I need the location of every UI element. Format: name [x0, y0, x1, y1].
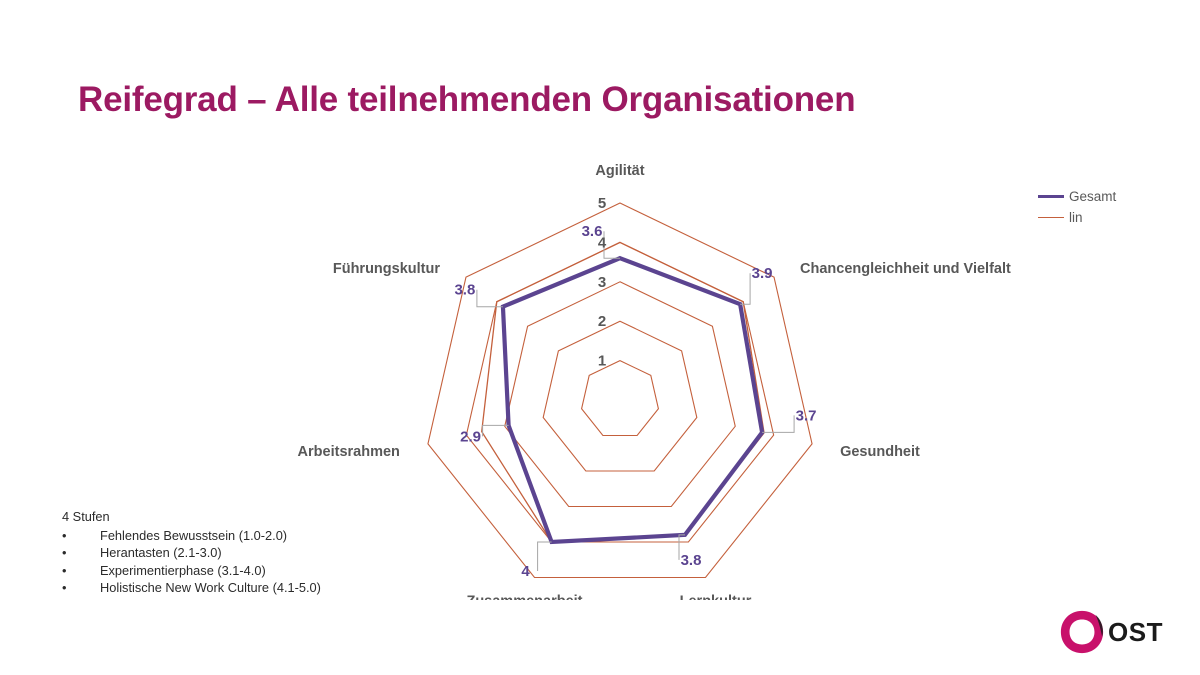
stufen-item-label: Experimentierphase (3.1-4.0): [100, 562, 266, 580]
stufen-legend: 4 Stufen • Fehlendes Bewusstsein (1.0-2.…: [62, 508, 321, 597]
list-item: • Holistische New Work Culture (4.1-5.0): [62, 579, 321, 597]
axis-label-1: Chancengleichheit und Vielfalt: [800, 261, 1011, 277]
grid-ring-3: [505, 282, 735, 507]
series-line-lin: [482, 242, 764, 542]
bullet-icon: •: [62, 544, 100, 562]
logo-text: OST: [1108, 617, 1163, 648]
leader-line-0: [604, 231, 620, 258]
legend-swatch-lin: [1038, 217, 1064, 218]
stufen-list: • Fehlendes Bewusstsein (1.0-2.0) • Hera…: [62, 527, 321, 597]
radar-series-lin: [482, 242, 764, 542]
legend-swatch-gesamt: [1038, 195, 1064, 198]
series-line-gesamt: [503, 258, 762, 542]
slide-canvas: Reifegrad – Alle teilnehmenden Organisat…: [0, 0, 1200, 675]
radial-tick-5: 5: [598, 195, 606, 212]
grid-ring-2: [543, 321, 697, 471]
stufen-item-label: Herantasten (2.1-3.0): [100, 544, 222, 562]
radial-tick-1: 1: [598, 353, 606, 370]
value-label-0: 3.6: [582, 223, 603, 240]
radial-tick-2: 2: [598, 313, 606, 330]
axis-label-6: Führungskultur: [333, 261, 440, 277]
axis-label-3: Lernkultur: [680, 594, 752, 601]
value-label-6: 3.8: [454, 282, 475, 299]
leader-line-2: [762, 415, 794, 432]
legend-item-lin[interactable]: lin: [1038, 207, 1188, 228]
axis-label-0: Agilität: [595, 163, 644, 179]
radar-series-gesamt: [503, 258, 762, 542]
value-label-2: 3.7: [796, 407, 817, 424]
legend-label-gesamt: Gesamt: [1069, 189, 1116, 204]
leader-line-1: [740, 273, 750, 304]
list-item: • Herantasten (2.1-3.0): [62, 544, 321, 562]
leader-line-6: [477, 290, 503, 307]
radar-tick-labels: 12345: [598, 195, 607, 370]
stufen-heading: 4 Stufen: [62, 508, 321, 526]
axis-label-4: Zusammenarbeit: [466, 594, 582, 601]
brand-logo: OST: [1058, 608, 1163, 656]
grid-ring-1: [582, 361, 659, 436]
leader-line-4: [538, 542, 552, 571]
axis-label-2: Gesundheit: [840, 444, 920, 460]
bullet-icon: •: [62, 579, 100, 597]
value-label-3: 3.8: [681, 552, 702, 569]
list-item: • Experimentierphase (3.1-4.0): [62, 562, 321, 580]
value-label-5: 2.9: [460, 428, 481, 445]
list-item: • Fehlendes Bewusstsein (1.0-2.0): [62, 527, 321, 545]
value-label-4: 4: [521, 563, 530, 580]
page-title: Reifegrad – Alle teilnehmenden Organisat…: [78, 80, 855, 120]
stufen-item-label: Holistische New Work Culture (4.1-5.0): [100, 579, 321, 597]
legend-item-gesamt[interactable]: Gesamt: [1038, 186, 1188, 207]
radar-leader-lines: [477, 231, 794, 571]
ost-ring-icon: [1058, 608, 1106, 656]
bullet-icon: •: [62, 562, 100, 580]
axis-label-5: Arbeitsrahmen: [298, 444, 400, 460]
stufen-item-label: Fehlendes Bewusstsein (1.0-2.0): [100, 527, 287, 545]
value-label-1: 3.9: [752, 265, 773, 282]
radial-tick-3: 3: [598, 274, 606, 291]
bullet-icon: •: [62, 527, 100, 545]
chart-legend: Gesamt lin: [1038, 186, 1188, 228]
legend-label-lin: lin: [1069, 210, 1083, 225]
